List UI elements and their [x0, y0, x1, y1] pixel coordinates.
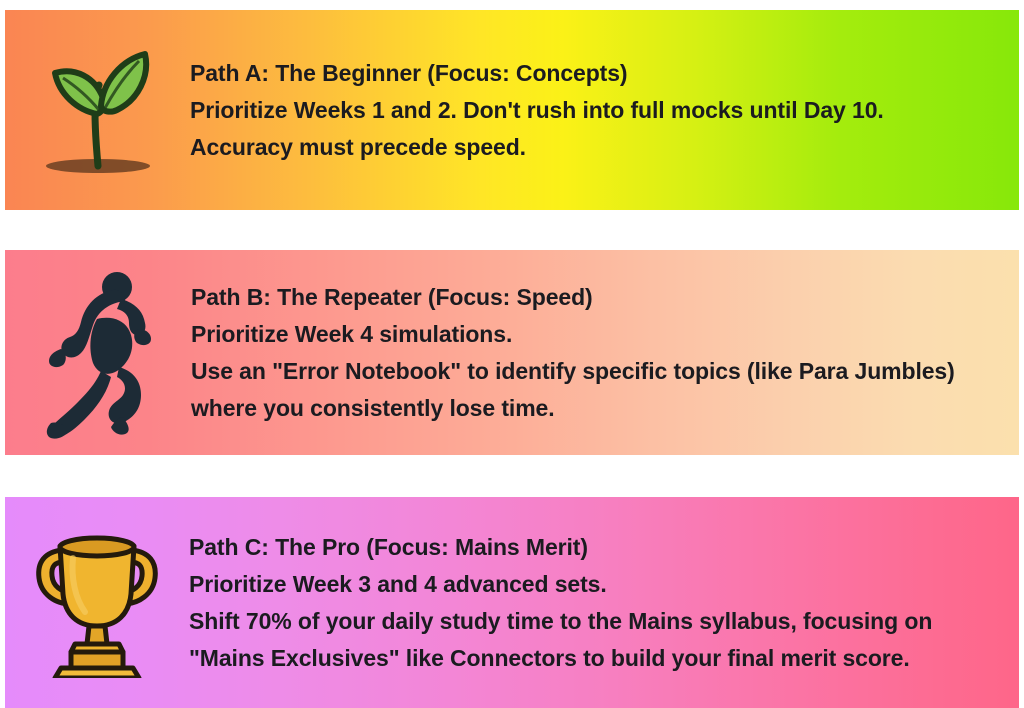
runner-icon [37, 267, 159, 439]
trophy-icon [27, 528, 167, 678]
path-a-line-3: Accuracy must precede speed. [190, 129, 995, 166]
path-b-line-2: Prioritize Week 4 simulations. [191, 316, 995, 353]
path-card-c: Path C: The Pro (Focus: Mains Merit) Pri… [5, 497, 1019, 708]
path-b-line-1: Path B: The Repeater (Focus: Speed) [191, 279, 995, 316]
path-c-icon-cell [5, 528, 189, 678]
path-c-line-1: Path C: The Pro (Focus: Mains Merit) [189, 529, 995, 566]
path-b-text: Path B: The Repeater (Focus: Speed) Prio… [191, 279, 1019, 427]
path-card-b: Path B: The Repeater (Focus: Speed) Prio… [5, 250, 1019, 455]
path-c-line-2: Prioritize Week 3 and 4 advanced sets. [189, 566, 995, 603]
path-a-line-2: Prioritize Weeks 1 and 2. Don't rush int… [190, 92, 995, 129]
path-cards-board: Path A: The Beginner (Focus: Concepts) P… [0, 0, 1024, 708]
path-c-line-3: Shift 70% of your daily study time to th… [189, 603, 995, 677]
path-card-a: Path A: The Beginner (Focus: Concepts) P… [5, 10, 1019, 210]
path-b-line-3: Use an "Error Notebook" to identify spec… [191, 353, 995, 427]
path-a-line-1: Path A: The Beginner (Focus: Concepts) [190, 55, 995, 92]
path-a-text: Path A: The Beginner (Focus: Concepts) P… [190, 55, 1019, 166]
seedling-icon [33, 40, 163, 180]
path-b-icon-cell [5, 267, 191, 439]
path-a-icon-cell [5, 40, 190, 180]
path-c-text: Path C: The Pro (Focus: Mains Merit) Pri… [189, 529, 1019, 677]
